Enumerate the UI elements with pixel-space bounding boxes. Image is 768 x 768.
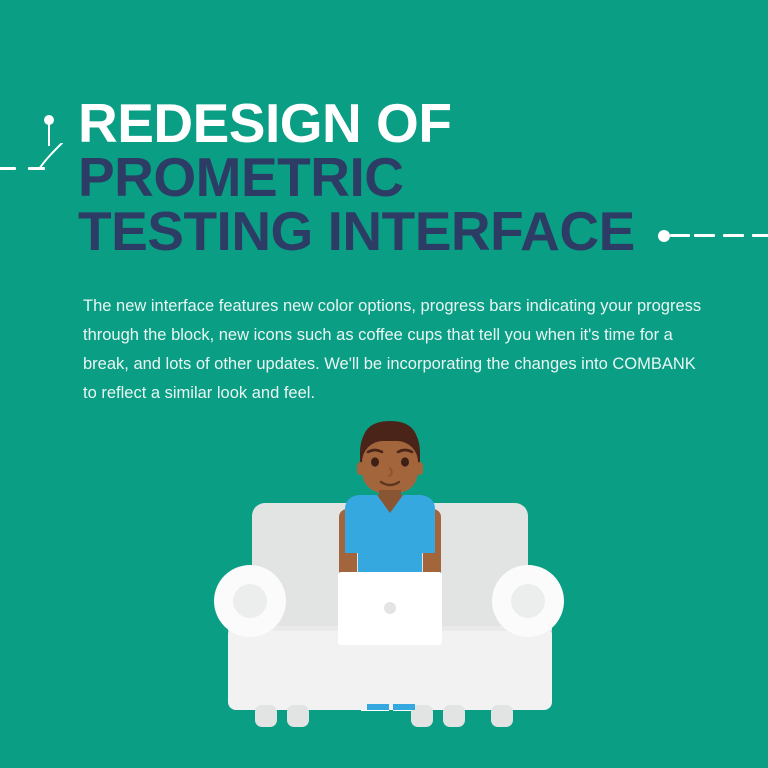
person-sofa-laptop-illustration bbox=[195, 405, 585, 745]
sofa-leg-2 bbox=[287, 705, 309, 727]
person-eye-left bbox=[371, 457, 379, 466]
decorative-dash-right-3 bbox=[723, 234, 744, 237]
person-ankle-left bbox=[367, 704, 389, 710]
decorative-dash-left-1 bbox=[0, 167, 16, 170]
title-line-3: TESTING INTERFACE bbox=[78, 204, 718, 258]
decorative-dash-left-2 bbox=[28, 167, 45, 170]
title-line-2: PROMETRIC bbox=[78, 150, 718, 204]
page-title: REDESIGN OF PROMETRIC TESTING INTERFACE bbox=[78, 96, 718, 258]
map-pin-icon bbox=[38, 115, 78, 175]
laptop-logo-icon bbox=[384, 602, 396, 614]
hero-illustration bbox=[195, 405, 585, 745]
body-paragraph: The new interface features new color opt… bbox=[83, 292, 703, 408]
slide-canvas: REDESIGN OF PROMETRIC TESTING INTERFACE … bbox=[0, 0, 768, 768]
title-line-1: REDESIGN OF bbox=[78, 96, 718, 150]
sofa-armrest-left-cushion bbox=[233, 584, 267, 618]
person-sleeve-left bbox=[345, 509, 358, 539]
person-eye-right bbox=[401, 457, 409, 466]
sofa-leg-1 bbox=[255, 705, 277, 727]
decorative-dash-right-4 bbox=[752, 234, 768, 237]
person-sleeve-right bbox=[422, 509, 435, 539]
person-ear-right bbox=[416, 462, 423, 475]
person-ear-left bbox=[357, 462, 364, 475]
sofa-armrest-right-cushion bbox=[511, 584, 545, 618]
sofa-leg-4 bbox=[443, 705, 465, 727]
sofa-leg-5 bbox=[491, 705, 513, 727]
person-ankle-right bbox=[393, 704, 415, 710]
